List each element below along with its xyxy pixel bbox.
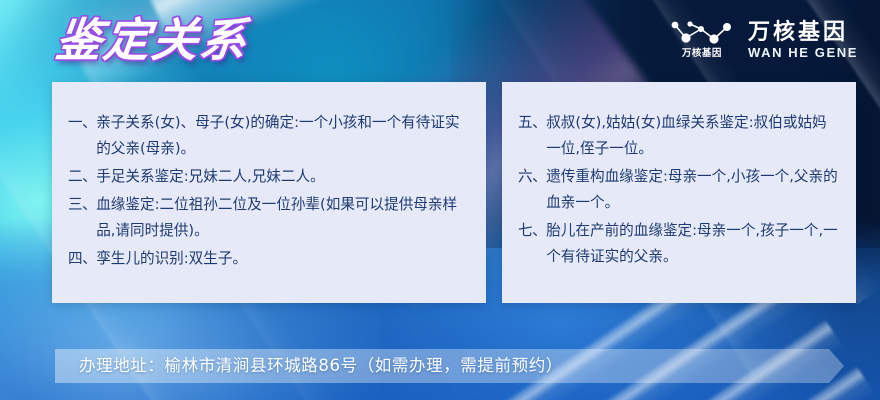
page-title: 鉴定关系 — [53, 13, 252, 67]
content-panel-left: 一、 亲子关系(女)、母子(女)的确定:一个小孩和一个有待证实的父亲(母亲)。 … — [52, 82, 486, 303]
list-item-text: 胎儿在产前的血缘鉴定:母亲一个,孩子一个,一个有待证实的父亲。 — [546, 218, 840, 270]
list-item-text: 血缘鉴定:二位祖孙二位及一位孙辈(如果可以提供母亲样品,请同时提供)。 — [96, 192, 470, 244]
list-item: 一、 亲子关系(女)、母子(女)的确定:一个小孩和一个有待证实的父亲(母亲)。 — [68, 110, 470, 162]
content-panel-right: 五、 叔叔(女),姑姑(女)血绿关系鉴定:叔伯或姑妈一位,侄子一位。 六、 遗传… — [502, 82, 856, 303]
list-item-number: 三、 — [68, 192, 96, 218]
content-panel-left-body: 一、 亲子关系(女)、母子(女)的确定:一个小孩和一个有待证实的父亲(母亲)。 … — [52, 82, 486, 272]
list-item-number: 五、 — [518, 110, 546, 136]
list-item-number: 七、 — [518, 218, 546, 244]
brand-mark: 万核基因 — [670, 20, 734, 59]
list-item: 六、 遗传重构血缘鉴定:母亲一个,小孩一个,父亲的血亲一个。 — [518, 164, 840, 216]
list-item-text: 遗传重构血缘鉴定:母亲一个,小孩一个,父亲的血亲一个。 — [546, 164, 840, 216]
list-item: 三、 血缘鉴定:二位祖孙二位及一位孙辈(如果可以提供母亲样品,请同时提供)。 — [68, 192, 470, 244]
brand-name-cn: 万核基因 — [748, 19, 858, 44]
address-text: 办理地址：榆林市清涧县环城路86号（如需办理，需提前预约） — [55, 349, 563, 383]
list-item-number: 一、 — [68, 110, 96, 136]
list-item-number: 六、 — [518, 164, 546, 190]
brand-name-en: WAN HE GENE — [748, 45, 858, 60]
list-item-number: 二、 — [68, 164, 96, 190]
address-ribbon: 办理地址：榆林市清涧县环城路86号（如需办理，需提前预约） — [55, 349, 844, 383]
molecule-network-icon — [670, 20, 734, 46]
brand-wordmark: 万核基因 WAN HE GENE — [748, 19, 858, 60]
list-item-text: 亲子关系(女)、母子(女)的确定:一个小孩和一个有待证实的父亲(母亲)。 — [96, 110, 470, 162]
list-item-text: 手足关系鉴定:兄妹二人,兄妹二人。 — [96, 164, 470, 190]
list-item-text: 孪生儿的识别:双生子。 — [96, 246, 470, 272]
list-item-text: 叔叔(女),姑姑(女)血绿关系鉴定:叔伯或姑妈一位,侄子一位。 — [546, 110, 840, 162]
list-item: 四、 孪生儿的识别:双生子。 — [68, 246, 470, 272]
brand-logo: 万核基因 万核基因 WAN HE GENE — [670, 19, 858, 60]
list-item: 二、 手足关系鉴定:兄妹二人,兄妹二人。 — [68, 164, 470, 190]
list-item: 五、 叔叔(女),姑姑(女)血绿关系鉴定:叔伯或姑妈一位,侄子一位。 — [518, 110, 840, 162]
content-panel-right-body: 五、 叔叔(女),姑姑(女)血绿关系鉴定:叔伯或姑妈一位,侄子一位。 六、 遗传… — [502, 82, 856, 270]
list-item-number: 四、 — [68, 246, 96, 272]
brand-mark-caption: 万核基因 — [682, 48, 722, 59]
list-item: 七、 胎儿在产前的血缘鉴定:母亲一个,孩子一个,一个有待证实的父亲。 — [518, 218, 840, 270]
poster-canvas: 鉴定关系 — [0, 0, 880, 400]
